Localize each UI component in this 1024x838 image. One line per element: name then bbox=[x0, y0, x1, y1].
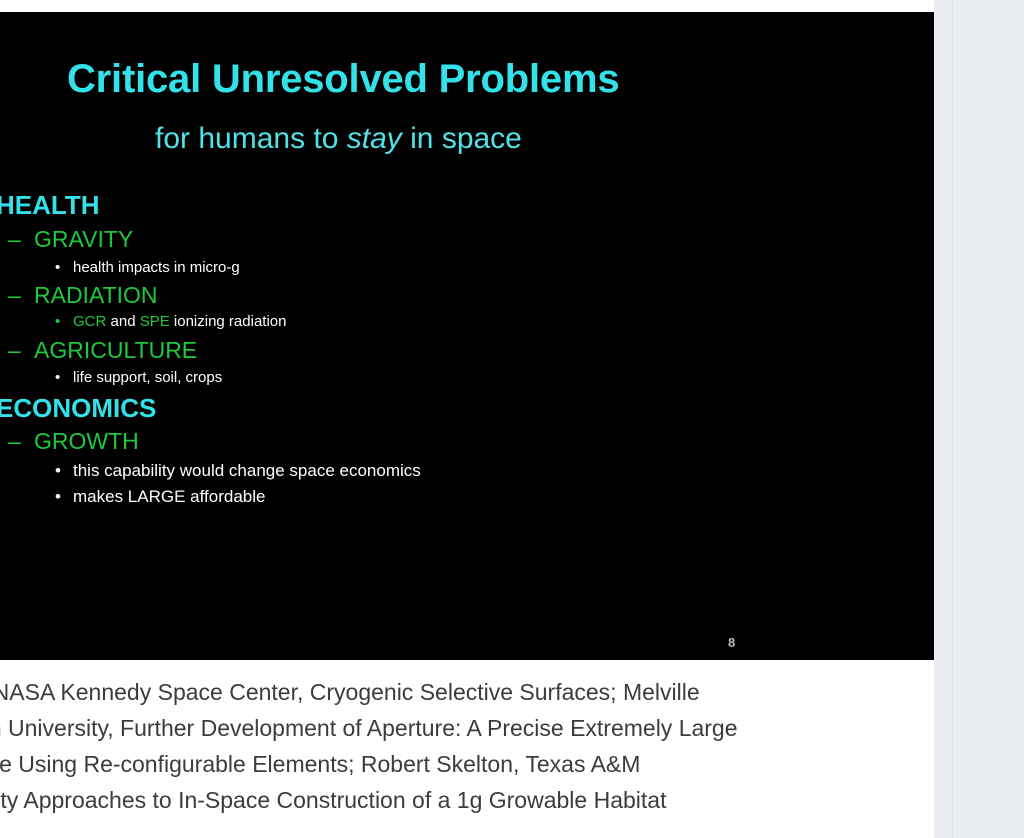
gutter-divider-line bbox=[952, 0, 953, 838]
outline-subheading-agriculture: –AGRICULTURE bbox=[8, 337, 197, 364]
outline-subheading-radiation-label: RADIATION bbox=[34, 282, 158, 308]
dash-icon: – bbox=[8, 428, 34, 455]
presentation-slide[interactable]: Critical Unresolved Problems for humans … bbox=[0, 12, 934, 660]
document-top-margin bbox=[0, 0, 934, 12]
dash-icon: – bbox=[8, 282, 34, 309]
caption-line: tern University, Further Development of … bbox=[0, 710, 934, 746]
outline-heading-health: HEALTH bbox=[0, 190, 100, 221]
dash-icon: – bbox=[8, 337, 34, 364]
bullet-icon: • bbox=[55, 259, 73, 276]
acronym-spe: SPE bbox=[140, 313, 170, 330]
document-column: Critical Unresolved Problems for humans … bbox=[0, 0, 934, 838]
page-background-gutter bbox=[934, 0, 1024, 838]
slide-subtitle-suffix: in space bbox=[402, 122, 522, 155]
slide-subtitle-prefix: for humans to bbox=[155, 122, 347, 155]
outline-bullet-ionizing-radiation: •GCR and SPE ionizing radiation bbox=[55, 313, 286, 330]
caption-line: egrity Approaches to In-Space Constructi… bbox=[0, 782, 934, 818]
caption-line: st, NASA Kennedy Space Center, Cryogenic… bbox=[0, 674, 934, 710]
slide-title: Critical Unresolved Problems bbox=[67, 57, 619, 102]
caption-line: cope Using Re-configurable Elements; Rob… bbox=[0, 746, 934, 782]
conjunction-and: and bbox=[106, 313, 139, 330]
outline-bullet-change-economics-label: this capability would change space econo… bbox=[73, 461, 421, 480]
bullet-icon: • bbox=[55, 487, 73, 507]
bullet-icon: • bbox=[55, 313, 73, 330]
outline-bullet-large-affordable-label: makes LARGE affordable bbox=[73, 487, 265, 506]
outline-bullet-life-support-label: life support, soil, crops bbox=[73, 369, 222, 386]
browser-viewport: Critical Unresolved Problems for humans … bbox=[0, 0, 1024, 838]
slide-subtitle-emphasis: stay bbox=[347, 122, 402, 155]
outline-bullet-large-affordable: •makes LARGE affordable bbox=[55, 487, 265, 507]
slide-subtitle: for humans to stay in space bbox=[155, 122, 522, 156]
outline-bullet-life-support: •life support, soil, crops bbox=[55, 369, 222, 386]
slide-page-number: 8 bbox=[728, 635, 735, 650]
outline-subheading-growth-label: GROWTH bbox=[34, 428, 139, 454]
outline-heading-economics: ECONOMICS bbox=[0, 393, 156, 424]
outline-subheading-growth: –GROWTH bbox=[8, 428, 139, 455]
outline-bullet-health-impacts-label: health impacts in micro-g bbox=[73, 259, 240, 276]
outline-subheading-gravity-label: GRAVITY bbox=[34, 226, 133, 252]
caption-text-block: st, NASA Kennedy Space Center, Cryogenic… bbox=[0, 660, 934, 838]
bullet-icon: • bbox=[55, 461, 73, 481]
outline-subheading-gravity: –GRAVITY bbox=[8, 226, 133, 253]
outline-bullet-change-economics: •this capability would change space econ… bbox=[55, 461, 421, 481]
outline-subheading-agriculture-label: AGRICULTURE bbox=[34, 337, 197, 363]
bullet-icon: • bbox=[55, 369, 73, 386]
outline-bullet-health-impacts: •health impacts in micro-g bbox=[55, 259, 240, 276]
acronym-gcr: GCR bbox=[73, 313, 106, 330]
outline-bullet-ionizing-radiation-tail: ionizing radiation bbox=[170, 313, 287, 330]
dash-icon: – bbox=[8, 226, 34, 253]
outline-subheading-radiation: –RADIATION bbox=[8, 282, 158, 309]
